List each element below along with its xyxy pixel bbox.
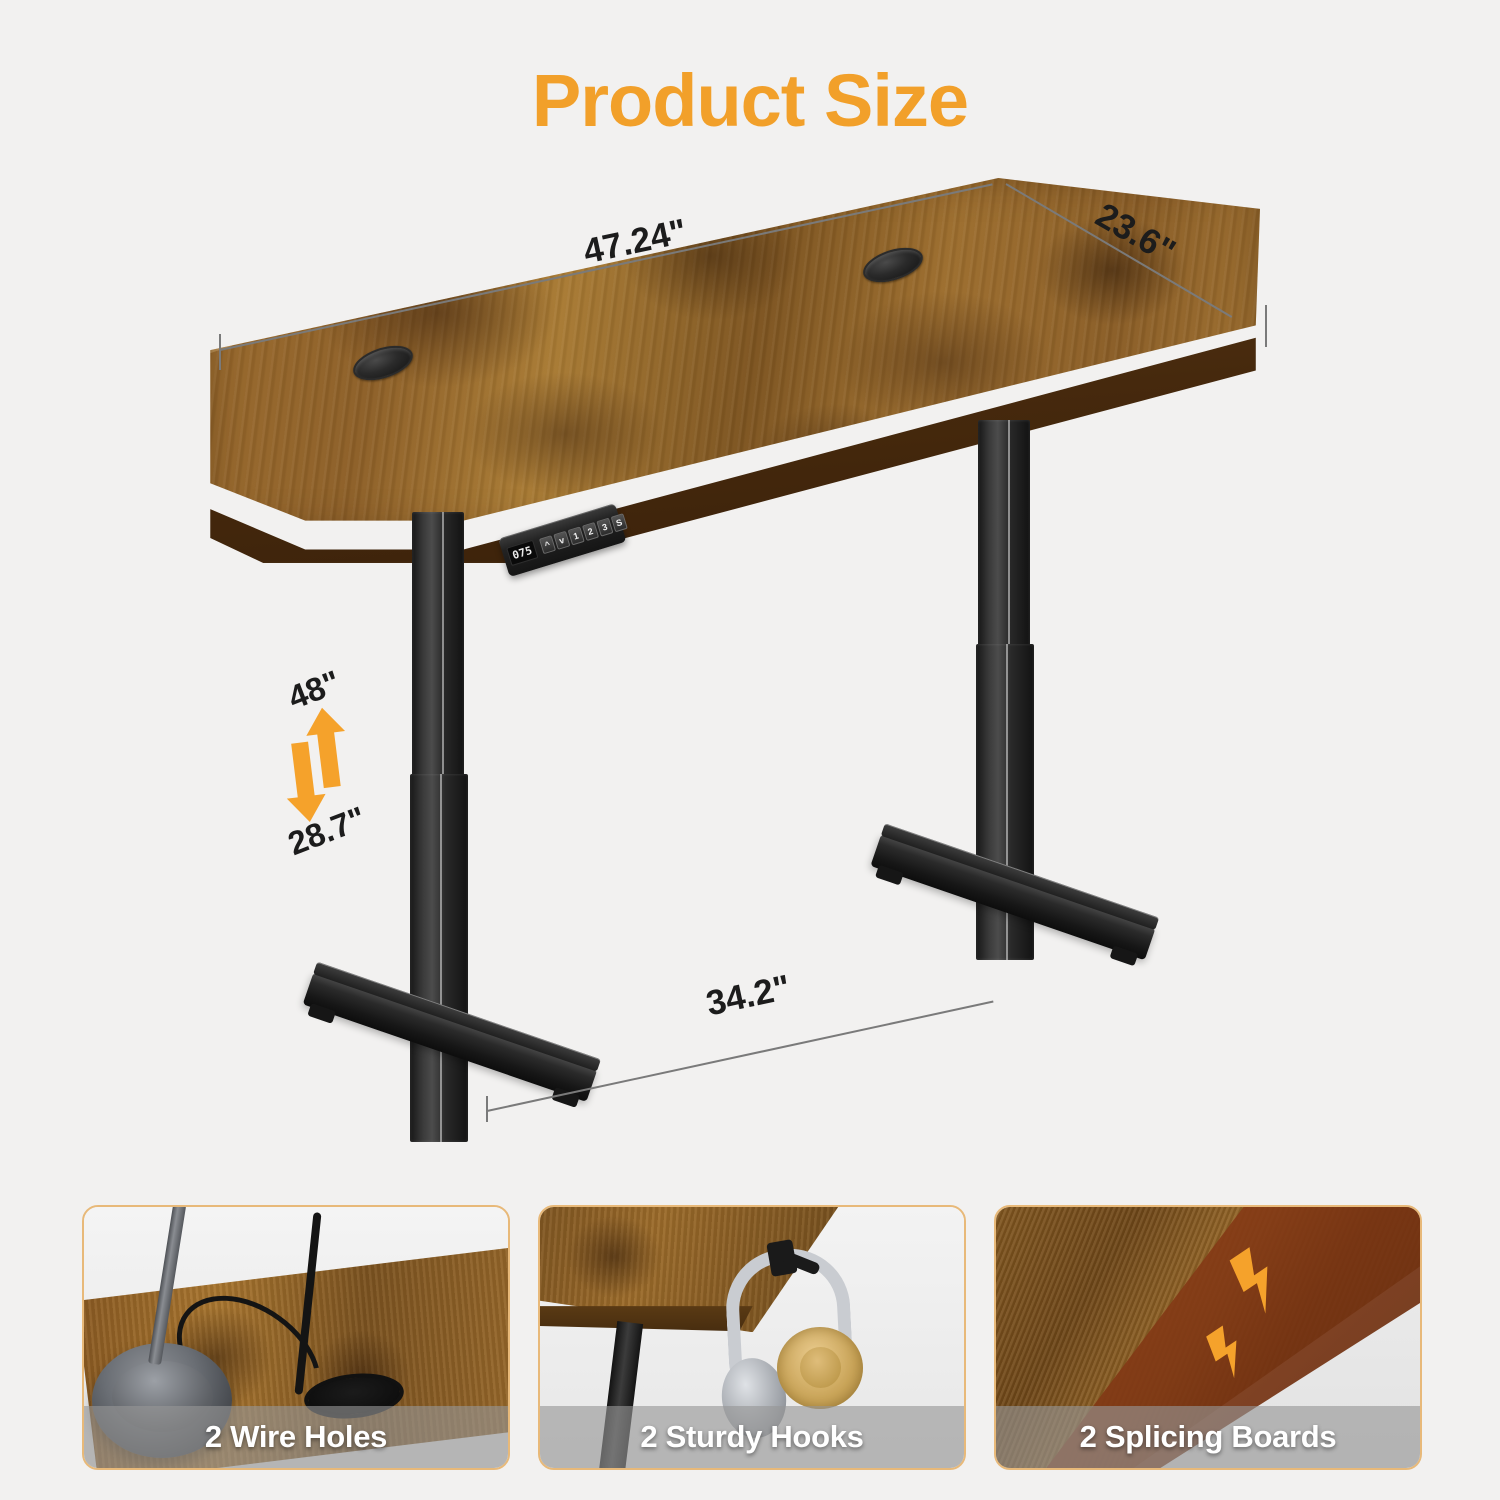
feature-card-sturdy-hooks[interactable]: 2 Sturdy Hooks bbox=[538, 1205, 966, 1470]
dimension-tick-width-left bbox=[219, 334, 221, 370]
feature-card-wire-holes[interactable]: 2 Wire Holes bbox=[82, 1205, 510, 1470]
feature-card-row: 2 Wire Holes 2 Sturdy Hooks bbox=[82, 1205, 1422, 1470]
height-display: 075 bbox=[506, 539, 538, 565]
feature-card-splicing-boards[interactable]: 2 Splicing Boards bbox=[994, 1205, 1422, 1470]
feature-caption-splicing-boards: 2 Splicing Boards bbox=[1080, 1419, 1337, 1455]
caption-band-sturdy-hooks: 2 Sturdy Hooks bbox=[540, 1406, 964, 1468]
leg-right-upper bbox=[978, 420, 1030, 652]
desk-assembly: 075 ^ v 1 2 3 S bbox=[0, 0, 1500, 1200]
leg-left-upper bbox=[412, 512, 464, 782]
feature-caption-sturdy-hooks: 2 Sturdy Hooks bbox=[640, 1419, 863, 1455]
headphone-earcup-right bbox=[777, 1327, 863, 1409]
chevron-marker-small bbox=[1201, 1324, 1253, 1382]
control-panel[interactable]: 075 ^ v 1 2 3 S bbox=[498, 503, 626, 577]
caption-band-splicing-boards: 2 Splicing Boards bbox=[996, 1406, 1420, 1468]
caption-band-wire-holes: 2 Wire Holes bbox=[84, 1406, 508, 1468]
leg-left-lower bbox=[410, 774, 468, 1142]
dimension-tick-depth-right bbox=[1265, 305, 1267, 347]
dimension-tick-foot-left bbox=[486, 1096, 488, 1122]
chevron-marker-large bbox=[1225, 1245, 1289, 1317]
feature-caption-wire-holes: 2 Wire Holes bbox=[205, 1419, 387, 1455]
